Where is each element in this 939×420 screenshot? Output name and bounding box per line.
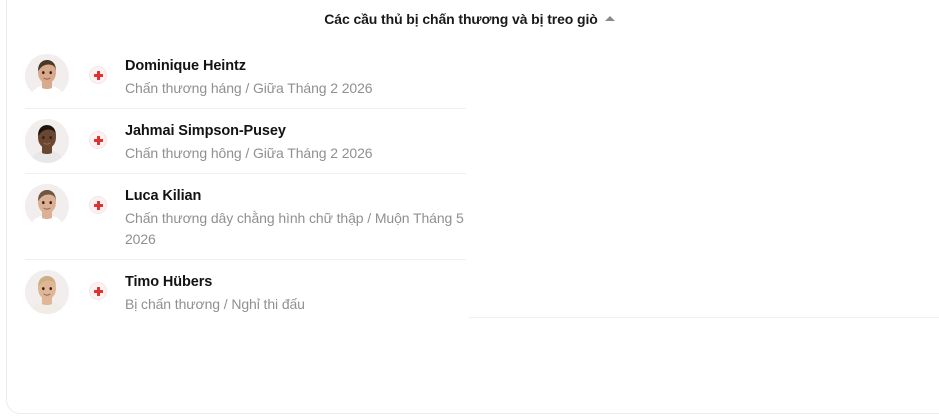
player-status-detail: Chấn thương hông / Giữa Tháng 2 2026: [125, 143, 372, 164]
player-name[interactable]: Jahmai Simpson-Pusey: [125, 121, 372, 141]
section-header-toggle[interactable]: Các cầu thủ bị chấn thương và bị treo gi…: [324, 9, 614, 29]
player-row[interactable]: Dominique HeintzChấn thương háng / Giữa …: [25, 44, 466, 109]
player-status-detail: Bị chấn thương / Nghỉ thi đấu: [125, 294, 305, 315]
player-row[interactable]: Timo HübersBị chấn thương / Nghỉ thi đấu: [25, 260, 466, 324]
injured-suspended-players-panel: Các cầu thủ bị chấn thương và bị treo gi…: [0, 0, 939, 420]
players-column-left: Dominique HeintzChấn thương háng / Giữa …: [0, 44, 469, 420]
player-name[interactable]: Dominique Heintz: [125, 56, 372, 76]
chevron-up-icon[interactable]: [605, 16, 615, 21]
players-column-right: Cleiton SantosChấn thương mắt cá chân / …: [469, 44, 939, 420]
red-cross-icon: [89, 66, 107, 84]
player-info: Timo HübersBị chấn thương / Nghỉ thi đấu: [125, 269, 305, 315]
player-name[interactable]: Luca Kilian: [125, 186, 466, 206]
avatar[interactable]: [25, 270, 69, 314]
player-info: Jahmai Simpson-PuseyChấn thương hông / G…: [125, 118, 372, 164]
page-title: Các cầu thủ bị chấn thương và bị treo gi…: [324, 9, 597, 29]
red-cross-icon: [89, 196, 107, 214]
avatar[interactable]: [25, 54, 69, 98]
player-info: Luca KilianChấn thương dây chằng hình ch…: [125, 183, 466, 250]
red-cross-icon: [89, 282, 107, 300]
section-header: Các cầu thủ bị chấn thương và bị treo gi…: [0, 9, 939, 29]
player-name[interactable]: Timo Hübers: [125, 272, 305, 292]
player-row[interactable]: Jenson SeeltChấn thương đầu gối / Giữa T…: [469, 318, 939, 420]
player-status-detail: Chấn thương dây chằng hình chữ thập / Mu…: [125, 208, 466, 250]
player-info: Dominique HeintzChấn thương háng / Giữa …: [125, 53, 372, 99]
avatar[interactable]: [25, 184, 69, 228]
players-columns: Dominique HeintzChấn thương háng / Giữa …: [0, 44, 939, 420]
avatar[interactable]: [25, 119, 69, 163]
player-row[interactable]: Luca KilianChấn thương dây chằng hình ch…: [25, 174, 466, 260]
player-status-detail: Chấn thương háng / Giữa Tháng 2 2026: [125, 78, 372, 99]
red-cross-icon: [89, 131, 107, 149]
player-row[interactable]: Cleiton SantosChấn thương mắt cá chân / …: [469, 44, 939, 318]
player-row[interactable]: Jahmai Simpson-PuseyChấn thương hông / G…: [25, 109, 466, 174]
